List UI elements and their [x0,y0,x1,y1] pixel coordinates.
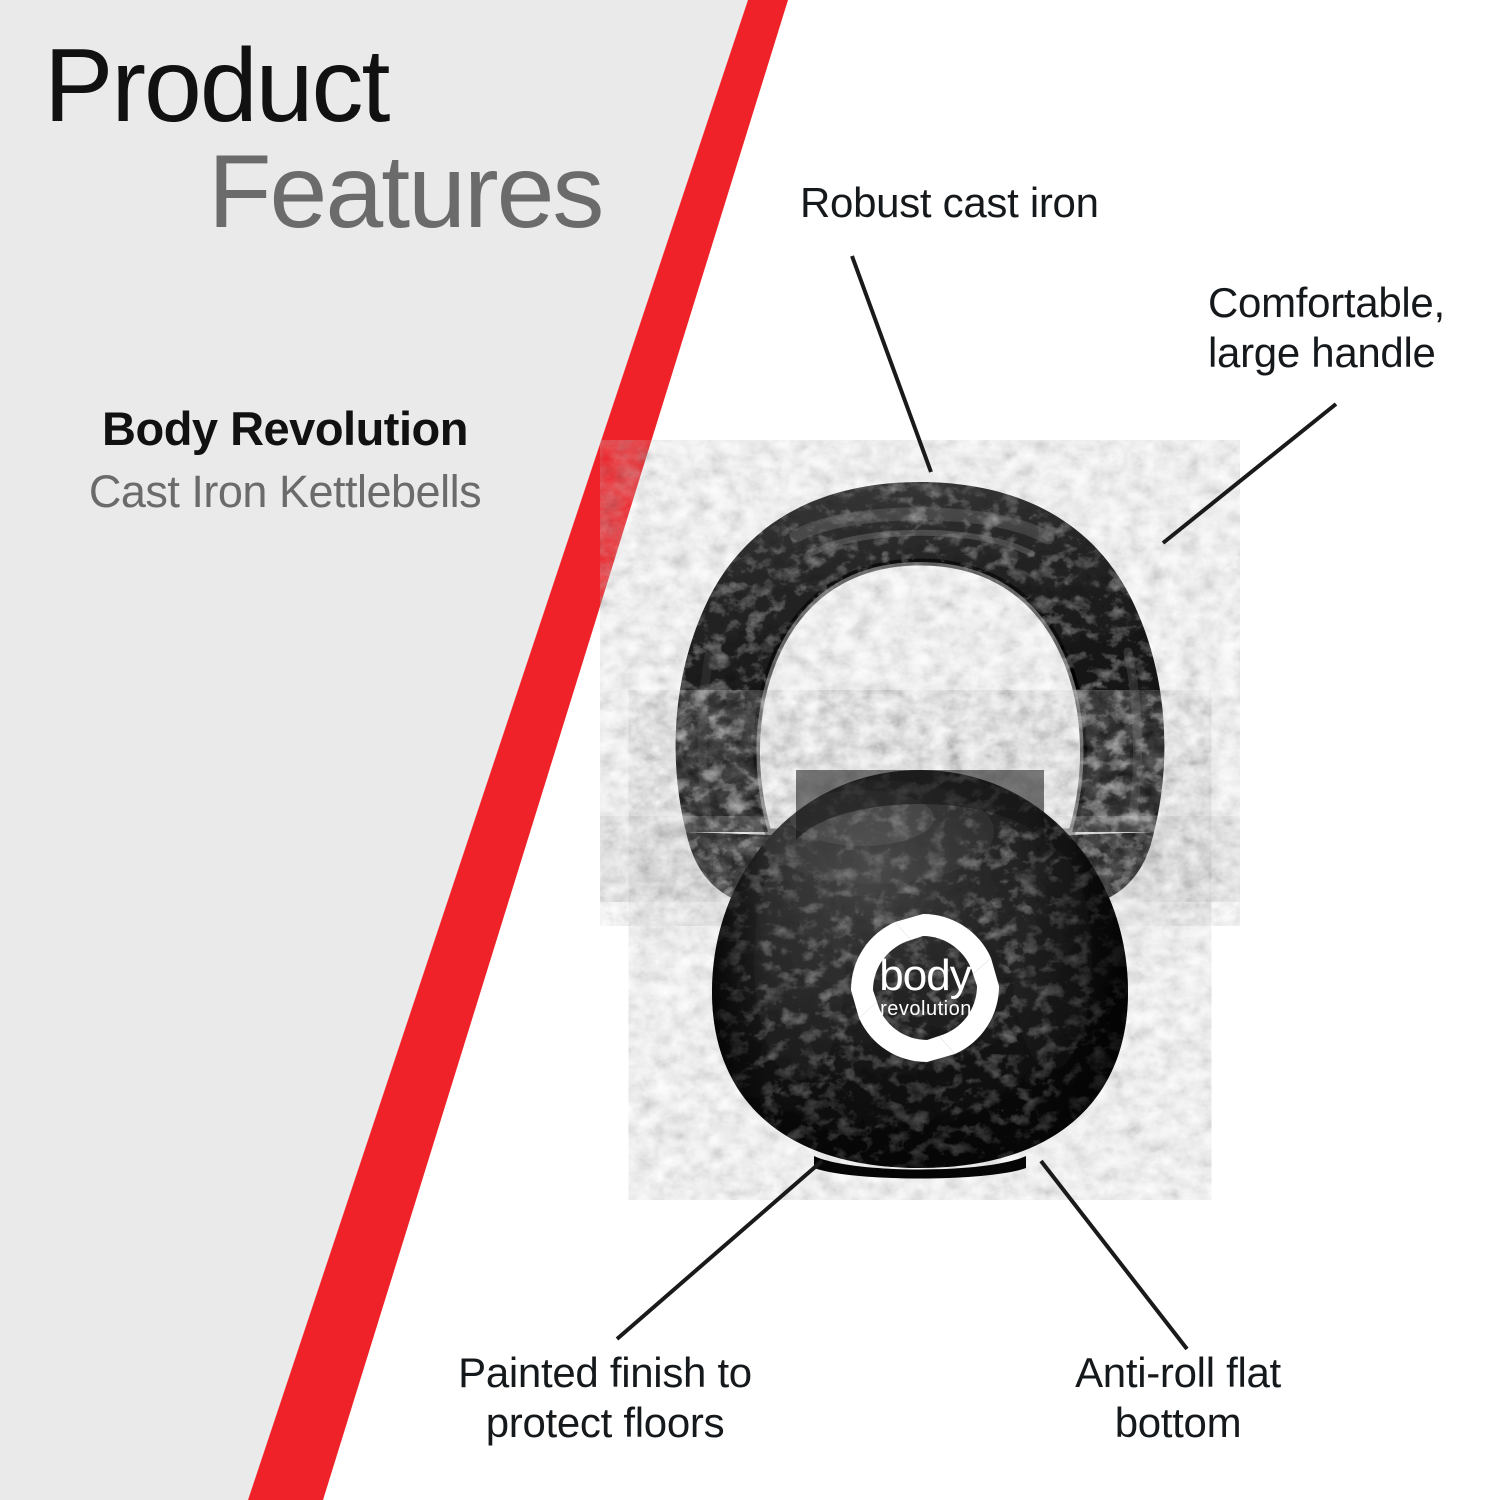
callout-comfortable-large-handle: Comfortable, large handle [1208,278,1445,377]
infographic-canvas: Product Features Body Revolution Cast Ir… [0,0,1500,1500]
callout-handle-line1: Comfortable, [1208,278,1445,328]
callout-robust-cast-iron: Robust cast iron [800,178,1099,228]
callout-handle-line2: large handle [1208,328,1445,378]
logo-word-body: body [879,951,971,1000]
callout-antiroll-line2: bottom [1028,1398,1328,1448]
brand-block: Body Revolution Cast Iron Kettlebells [0,400,570,521]
callout-robust-line1: Robust cast iron [800,178,1099,228]
page-title: Product Features [0,34,700,244]
callout-painted-line1: Painted finish to [420,1348,790,1398]
title-line-features: Features [0,140,700,244]
callout-painted-finish: Painted finish to protect floors [420,1348,790,1447]
brand-subtitle: Cast Iron Kettlebells [0,463,570,522]
callout-painted-line2: protect floors [420,1398,790,1448]
kettlebell-product-image: body revolution [600,440,1240,1200]
callout-anti-roll-flat-bottom: Anti-roll flat bottom [1028,1348,1328,1447]
logo-word-revolution: revolution [880,998,972,1020]
brand-name: Body Revolution [0,400,570,459]
title-line-product: Product [0,34,700,138]
callout-antiroll-line1: Anti-roll flat [1028,1348,1328,1398]
